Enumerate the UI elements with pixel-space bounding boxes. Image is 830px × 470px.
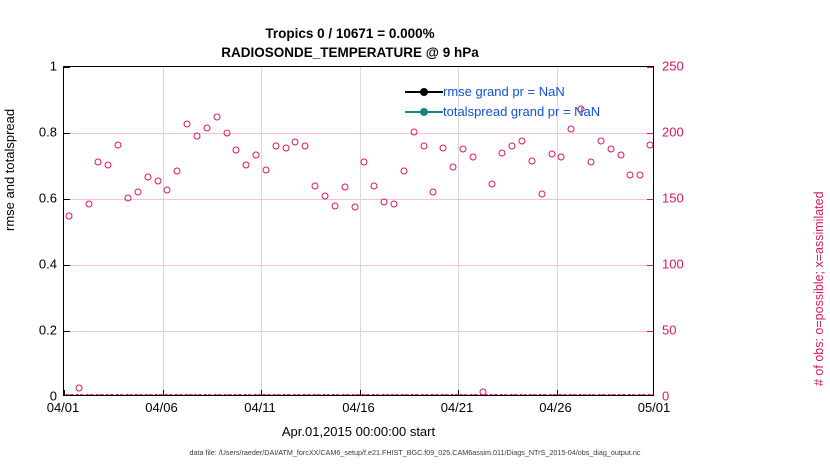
obs-assimilated-marker xyxy=(272,394,279,396)
obs-assimilated-marker xyxy=(628,394,635,396)
obs-assimilated-marker xyxy=(627,394,634,396)
obs-assimilated-marker xyxy=(381,394,388,396)
obs-possible-marker xyxy=(430,189,437,196)
obs-possible-marker xyxy=(272,143,279,150)
obs-assimilated-marker xyxy=(193,394,200,396)
obs-assimilated-marker xyxy=(505,394,512,396)
obs-possible-marker xyxy=(459,145,466,152)
obs-assimilated-marker xyxy=(81,394,88,396)
obs-assimilated-marker xyxy=(135,394,142,396)
obs-assimilated-marker xyxy=(431,394,438,396)
y-tick-right xyxy=(647,331,653,332)
obs-assimilated-marker xyxy=(219,394,226,396)
obs-assimilated-marker xyxy=(190,394,197,396)
obs-assimilated-marker xyxy=(623,394,630,396)
obs-assimilated-marker xyxy=(446,394,453,396)
chart-title: Tropics 0 / 10671 = 0.000% RADIOSONDE_TE… xyxy=(0,24,700,62)
obs-possible-marker xyxy=(558,153,565,160)
obs-possible-marker xyxy=(341,184,348,191)
obs-assimilated-marker xyxy=(322,394,329,396)
obs-possible-marker xyxy=(184,120,191,127)
obs-assimilated-marker xyxy=(249,394,256,396)
x-tick xyxy=(64,390,65,395)
obs-assimilated-marker xyxy=(312,394,319,396)
obs-assimilated-marker xyxy=(400,394,407,396)
obs-assimilated-marker xyxy=(175,394,182,396)
obs-possible-marker xyxy=(164,186,171,193)
obs-assimilated-marker xyxy=(308,394,315,396)
obs-possible-marker xyxy=(115,141,122,148)
obs-possible-marker xyxy=(302,143,309,150)
obs-assimilated-marker xyxy=(450,394,457,396)
obs-assimilated-marker xyxy=(292,394,299,396)
obs-assimilated-marker xyxy=(116,394,123,396)
y-tick-left xyxy=(64,331,70,332)
x-tick xyxy=(458,390,459,395)
obs-assimilated-marker xyxy=(164,394,171,396)
obs-assimilated-marker xyxy=(154,394,161,396)
y-ticklabel-right: 50 xyxy=(662,323,714,338)
x-ticklabel: 04/21 xyxy=(441,400,474,415)
obs-assimilated-marker xyxy=(144,394,151,396)
obs-assimilated-marker xyxy=(233,394,240,396)
obs-assimilated-marker xyxy=(568,394,575,396)
obs-assimilated-marker xyxy=(587,394,594,396)
figure: Tropics 0 / 10671 = 0.000% RADIOSONDE_TE… xyxy=(0,0,830,470)
obs-assimilated-marker xyxy=(352,394,359,396)
obs-assimilated-marker xyxy=(126,394,133,396)
obs-assimilated-marker xyxy=(490,394,497,396)
obs-assimilated-marker xyxy=(643,394,650,396)
obs-assimilated-marker xyxy=(401,394,408,396)
gridline-vertical xyxy=(163,67,164,395)
obs-possible-marker xyxy=(193,132,200,139)
obs-possible-marker xyxy=(282,144,289,151)
obs-assimilated-marker xyxy=(165,394,172,396)
obs-assimilated-marker xyxy=(618,394,625,396)
obs-assimilated-marker xyxy=(459,394,466,396)
obs-assimilated-marker xyxy=(579,394,586,396)
obs-possible-marker xyxy=(253,152,260,159)
obs-assimilated-marker xyxy=(262,394,269,396)
obs-assimilated-marker xyxy=(362,394,369,396)
obs-assimilated-marker xyxy=(234,394,241,396)
obs-assimilated-marker xyxy=(145,394,152,396)
y-tick-left xyxy=(64,133,70,134)
obs-assimilated-marker xyxy=(470,394,477,396)
obs-possible-marker xyxy=(509,143,516,150)
obs-assimilated-marker xyxy=(460,394,467,396)
obs-possible-marker xyxy=(450,164,457,171)
obs-assimilated-marker xyxy=(213,394,220,396)
x-tick xyxy=(261,390,262,395)
obs-assimilated-marker xyxy=(441,394,448,396)
obs-assimilated-marker xyxy=(411,394,418,396)
obs-assimilated-marker xyxy=(391,394,398,396)
obs-assimilated-marker xyxy=(613,394,620,396)
legend-label-totalspread: totalspread grand pr = NaN xyxy=(443,105,600,119)
y-ticklabel-left: 0.4 xyxy=(5,257,57,272)
obs-possible-marker xyxy=(420,143,427,150)
obs-assimilated-marker xyxy=(243,394,250,396)
obs-assimilated-marker xyxy=(115,394,122,396)
obs-assimilated-marker xyxy=(337,394,344,396)
obs-assimilated-marker xyxy=(588,394,595,396)
gridline-horizontal xyxy=(64,331,653,332)
obs-assimilated-marker xyxy=(499,394,506,396)
obs-assimilated-marker xyxy=(495,394,502,396)
obs-assimilated-marker xyxy=(515,394,522,396)
obs-assimilated-marker xyxy=(65,394,72,396)
obs-assimilated-marker xyxy=(185,394,192,396)
obs-assimilated-marker xyxy=(278,394,285,396)
y-ticklabel-right: 100 xyxy=(662,257,714,272)
obs-assimilated-marker xyxy=(288,394,295,396)
obs-assimilated-marker xyxy=(263,394,270,396)
obs-assimilated-marker xyxy=(282,394,289,396)
obs-assimilated-marker xyxy=(244,394,251,396)
obs-assimilated-marker xyxy=(539,394,546,396)
obs-assimilated-marker xyxy=(224,394,231,396)
obs-assimilated-marker xyxy=(86,394,93,396)
y-axis-right-title: # of obs: o=possible; x=assimilated xyxy=(812,191,826,386)
y-ticklabel-right: 250 xyxy=(662,59,714,74)
obs-assimilated-marker xyxy=(283,394,290,396)
obs-possible-marker xyxy=(331,202,338,209)
x-ticklabel: 05/01 xyxy=(638,400,671,415)
obs-assimilated-marker xyxy=(426,394,433,396)
obs-assimilated-marker xyxy=(239,394,246,396)
title-line-1: Tropics 0 / 10671 = 0.000% xyxy=(0,24,700,43)
obs-possible-marker xyxy=(587,159,594,166)
obs-possible-marker xyxy=(371,182,378,189)
x-tick xyxy=(360,390,361,395)
obs-possible-marker xyxy=(568,126,575,133)
obs-assimilated-marker xyxy=(377,394,384,396)
obs-assimilated-marker xyxy=(559,394,566,396)
obs-assimilated-marker xyxy=(268,394,275,396)
obs-assimilated-marker xyxy=(593,394,600,396)
obs-possible-marker xyxy=(322,193,329,200)
obs-assimilated-marker xyxy=(617,394,624,396)
obs-assimilated-marker xyxy=(371,394,378,396)
obs-assimilated-marker xyxy=(387,394,394,396)
obs-possible-marker xyxy=(213,114,220,121)
obs-assimilated-marker xyxy=(529,394,536,396)
obs-assimilated-marker xyxy=(648,394,653,396)
obs-possible-marker xyxy=(105,161,112,168)
obs-assimilated-marker xyxy=(170,394,177,396)
y-ticklabel-left: 0.2 xyxy=(5,323,57,338)
obs-assimilated-marker xyxy=(323,394,330,396)
obs-assimilated-marker xyxy=(421,394,428,396)
obs-assimilated-marker xyxy=(91,394,98,396)
obs-assimilated-marker xyxy=(125,394,132,396)
obs-assimilated-marker xyxy=(209,394,216,396)
legend-marker-rmse xyxy=(405,86,443,98)
gridline-vertical xyxy=(360,67,361,395)
obs-assimilated-marker xyxy=(430,394,437,396)
obs-assimilated-marker xyxy=(569,394,576,396)
gridline-vertical xyxy=(261,67,262,395)
obs-assimilated-marker xyxy=(534,394,541,396)
obs-possible-marker xyxy=(233,147,240,154)
obs-assimilated-marker xyxy=(519,394,526,396)
obs-assimilated-marker xyxy=(204,394,211,396)
obs-assimilated-marker xyxy=(367,394,374,396)
obs-assimilated-marker xyxy=(544,394,551,396)
obs-possible-marker xyxy=(440,144,447,151)
title-line-2: RADIOSONDE_TEMPERATURE @ 9 hPa xyxy=(0,43,700,62)
obs-possible-marker xyxy=(223,130,230,137)
obs-assimilated-marker xyxy=(485,394,492,396)
obs-assimilated-marker xyxy=(396,394,403,396)
x-tick xyxy=(557,390,558,395)
obs-assimilated-marker xyxy=(410,394,417,396)
obs-assimilated-marker xyxy=(509,394,516,396)
obs-assimilated-marker xyxy=(406,394,413,396)
gridline-horizontal xyxy=(64,265,653,266)
obs-assimilated-marker xyxy=(253,394,260,396)
obs-assimilated-marker xyxy=(510,394,517,396)
x-axis-title: Apr.01,2015 00:00:00 start xyxy=(63,424,654,439)
y-ticklabel-right: 200 xyxy=(662,125,714,140)
obs-possible-marker xyxy=(134,189,141,196)
obs-assimilated-marker xyxy=(469,394,476,396)
obs-possible-marker xyxy=(400,168,407,175)
obs-possible-marker xyxy=(548,151,555,158)
legend: rmse grand pr = NaN totalspread grand pr… xyxy=(405,82,650,122)
obs-assimilated-marker xyxy=(155,394,162,396)
x-ticklabel: 04/26 xyxy=(539,400,572,415)
y-tick-left xyxy=(64,199,70,200)
obs-assimilated-marker xyxy=(130,394,137,396)
obs-possible-marker xyxy=(637,172,644,179)
obs-assimilated-marker xyxy=(549,394,556,396)
legend-item-totalspread[interactable]: totalspread grand pr = NaN xyxy=(405,102,650,122)
obs-assimilated-marker xyxy=(140,394,147,396)
obs-assimilated-marker xyxy=(214,394,221,396)
legend-item-rmse[interactable]: rmse grand pr = NaN xyxy=(405,82,650,102)
obs-possible-marker xyxy=(144,173,151,180)
obs-assimilated-marker xyxy=(121,394,128,396)
obs-assimilated-marker xyxy=(524,394,531,396)
obs-assimilated-marker xyxy=(500,394,507,396)
obs-possible-marker xyxy=(538,190,545,197)
obs-assimilated-marker xyxy=(416,394,423,396)
obs-possible-marker xyxy=(519,137,526,144)
obs-assimilated-marker xyxy=(303,394,310,396)
obs-possible-marker xyxy=(627,172,634,179)
obs-assimilated-marker xyxy=(194,394,201,396)
obs-assimilated-marker xyxy=(273,394,280,396)
obs-possible-marker xyxy=(390,201,397,208)
obs-possible-marker xyxy=(410,128,417,135)
x-tick xyxy=(163,390,164,395)
data-file-footer: data file: /Users/raeder/DAI/ATM_forcXX/… xyxy=(0,448,830,457)
obs-assimilated-marker xyxy=(223,394,230,396)
obs-assimilated-marker xyxy=(372,394,379,396)
obs-assimilated-marker xyxy=(361,394,368,396)
obs-assimilated-marker xyxy=(313,394,320,396)
obs-assimilated-marker xyxy=(633,394,640,396)
legend-label-rmse: rmse grand pr = NaN xyxy=(443,85,565,99)
obs-assimilated-marker xyxy=(180,394,187,396)
y-ticklabel-left: 0.8 xyxy=(5,125,57,140)
obs-assimilated-marker xyxy=(465,394,472,396)
y-tick-right xyxy=(647,67,653,68)
obs-possible-marker xyxy=(361,159,368,166)
obs-assimilated-marker xyxy=(327,394,334,396)
obs-assimilated-marker xyxy=(293,394,300,396)
obs-assimilated-marker xyxy=(489,394,496,396)
obs-assimilated-marker xyxy=(638,394,645,396)
obs-assimilated-marker xyxy=(597,394,604,396)
x-ticklabel: 04/01 xyxy=(47,400,80,415)
obs-assimilated-marker xyxy=(347,394,354,396)
obs-possible-marker xyxy=(528,157,535,164)
obs-possible-marker xyxy=(95,159,102,166)
y-tick-left xyxy=(64,67,70,68)
obs-assimilated-marker xyxy=(254,394,261,396)
obs-possible-marker xyxy=(499,149,506,156)
obs-assimilated-marker xyxy=(111,394,118,396)
x-ticklabel: 04/06 xyxy=(145,400,178,415)
obs-assimilated-marker xyxy=(203,394,210,396)
obs-assimilated-marker xyxy=(603,394,610,396)
obs-possible-marker xyxy=(597,137,604,144)
obs-assimilated-marker xyxy=(331,394,338,396)
obs-possible-marker xyxy=(292,139,299,146)
y-tick-right xyxy=(647,199,653,200)
obs-assimilated-marker xyxy=(76,394,83,396)
obs-assimilated-marker xyxy=(106,394,113,396)
obs-possible-marker xyxy=(203,124,210,131)
obs-assimilated-marker xyxy=(96,394,103,396)
obs-assimilated-marker xyxy=(558,394,565,396)
obs-assimilated-marker xyxy=(332,394,339,396)
obs-assimilated-marker xyxy=(341,394,348,396)
obs-assimilated-marker xyxy=(351,394,358,396)
obs-assimilated-marker xyxy=(520,394,527,396)
obs-possible-marker xyxy=(85,201,92,208)
obs-possible-marker xyxy=(125,194,132,201)
obs-assimilated-marker xyxy=(451,394,458,396)
legend-marker-totalspread xyxy=(405,106,443,118)
obs-assimilated-marker xyxy=(420,394,427,396)
obs-possible-marker xyxy=(262,166,269,173)
obs-possible-marker xyxy=(469,153,476,160)
y-tick-right xyxy=(647,133,653,134)
obs-assimilated-marker xyxy=(174,394,181,396)
obs-assimilated-marker xyxy=(134,394,141,396)
obs-assimilated-marker xyxy=(85,394,92,396)
y-ticklabel-right: 150 xyxy=(662,191,714,206)
obs-assimilated-marker xyxy=(440,394,447,396)
obs-possible-marker xyxy=(479,388,486,395)
y-tick-left xyxy=(64,265,70,266)
obs-possible-marker xyxy=(617,152,624,159)
y-ticklabel-left: 0.6 xyxy=(5,191,57,206)
obs-assimilated-marker xyxy=(95,394,102,396)
obs-assimilated-marker xyxy=(71,394,78,396)
obs-possible-marker xyxy=(489,181,496,188)
obs-assimilated-marker xyxy=(229,394,236,396)
obs-assimilated-marker xyxy=(647,394,653,396)
obs-possible-marker xyxy=(607,145,614,152)
obs-assimilated-marker xyxy=(342,394,349,396)
obs-possible-marker xyxy=(351,203,358,210)
obs-possible-marker xyxy=(647,141,653,148)
obs-assimilated-marker xyxy=(608,394,615,396)
obs-possible-marker xyxy=(75,384,82,391)
obs-assimilated-marker xyxy=(548,394,555,396)
obs-assimilated-marker xyxy=(199,394,206,396)
gridline-horizontal xyxy=(64,133,653,134)
y-ticklabel-left: 1 xyxy=(5,59,57,74)
obs-assimilated-marker xyxy=(302,394,309,396)
obs-assimilated-marker xyxy=(538,394,545,396)
obs-assimilated-marker xyxy=(298,394,305,396)
obs-possible-marker xyxy=(65,213,72,220)
obs-possible-marker xyxy=(154,177,161,184)
obs-possible-marker xyxy=(312,182,319,189)
obs-assimilated-marker xyxy=(637,394,644,396)
obs-assimilated-marker xyxy=(66,394,73,396)
obs-possible-marker xyxy=(243,161,250,168)
x-ticklabel: 04/16 xyxy=(342,400,375,415)
obs-assimilated-marker xyxy=(105,394,112,396)
obs-assimilated-marker xyxy=(528,394,535,396)
obs-assimilated-marker xyxy=(318,394,325,396)
obs-assimilated-marker xyxy=(75,394,82,396)
y-tick-right xyxy=(647,265,653,266)
obs-assimilated-marker xyxy=(578,394,585,396)
obs-assimilated-marker xyxy=(574,394,581,396)
obs-assimilated-marker xyxy=(101,394,108,396)
obs-assimilated-marker xyxy=(390,394,397,396)
x-ticklabel: 04/11 xyxy=(244,400,276,415)
obs-assimilated-marker xyxy=(382,394,389,396)
obs-assimilated-marker xyxy=(607,394,614,396)
obs-possible-marker xyxy=(174,168,181,175)
obs-possible-marker xyxy=(381,198,388,205)
obs-assimilated-marker xyxy=(598,394,605,396)
obs-assimilated-marker xyxy=(150,394,157,396)
obs-assimilated-marker xyxy=(564,394,571,396)
gridline-horizontal xyxy=(64,199,653,200)
obs-assimilated-marker xyxy=(584,394,591,396)
obs-assimilated-marker xyxy=(436,394,443,396)
obs-assimilated-marker xyxy=(184,394,191,396)
